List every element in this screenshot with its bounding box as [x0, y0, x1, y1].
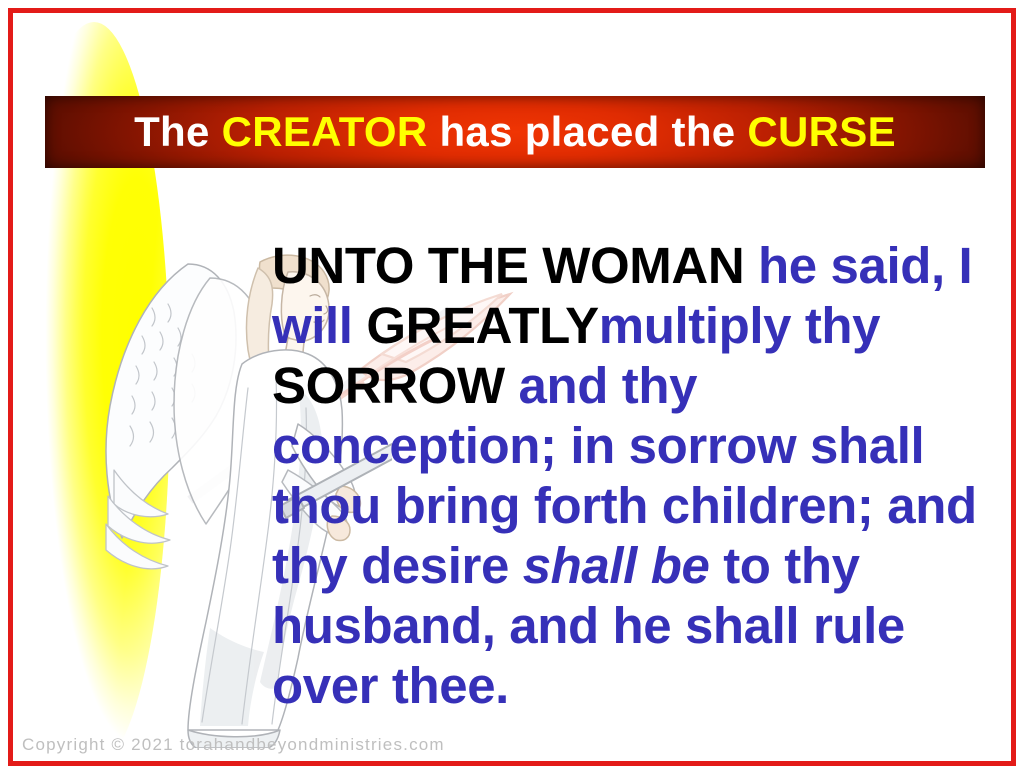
title-segment-has-placed-the: has placed the: [428, 108, 748, 155]
scripture-run-shall-be-italic: shall be: [523, 537, 710, 594]
scripture-run-greatly: GREATLY: [366, 297, 598, 354]
title-segment-curse: CURSE: [747, 108, 896, 155]
scripture-run-unto-the-woman: UNTO THE WOMAN: [272, 237, 758, 294]
scripture-text-block: UNTO THE WOMAN he said, I will GREATLYmu…: [272, 236, 990, 716]
title-text: The CREATOR has placed the CURSE: [134, 111, 896, 153]
slide-canvas: The CREATOR has placed the CURSE UNTO TH…: [0, 0, 1024, 774]
title-segment-creator: CREATOR: [222, 108, 428, 155]
copyright-notice: Copyright © 2021 torahandbeyondministrie…: [22, 735, 445, 755]
scripture-run-multiply-thy: multiply thy: [599, 297, 880, 354]
title-banner: The CREATOR has placed the CURSE: [45, 96, 985, 168]
title-segment-the: The: [134, 108, 222, 155]
scripture-run-sorrow: SORROW: [272, 357, 505, 414]
